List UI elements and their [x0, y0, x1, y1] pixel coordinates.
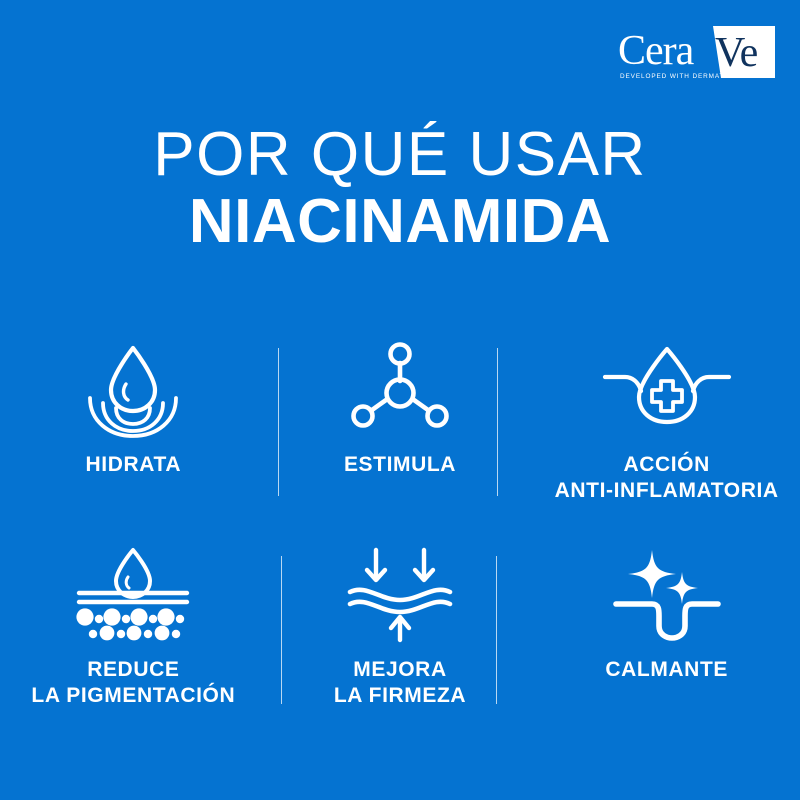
benefit-item-reduce-la-pigmentacion: REDUCE LA PIGMENTACIÓN — [0, 535, 267, 735]
benefit-label-line-1: REDUCE — [87, 658, 179, 681]
title-line-1: POR QUÉ USAR — [0, 122, 800, 188]
benefit-label-line-1: ACCIÓN — [623, 453, 709, 476]
benefit-label: MEJORA LA FIRMEZA — [334, 657, 466, 709]
benefit-label: REDUCE LA PIGMENTACIÓN — [31, 657, 235, 709]
benefit-item-calmante: CALMANTE — [533, 535, 800, 735]
sparkles-pore-icon — [608, 535, 726, 653]
poster-canvas: Cera Ve DEVELOPED WITH DERMATOLOGISTS PO… — [0, 0, 800, 800]
benefit-item-hidrata: HIDRATA — [0, 330, 267, 530]
benefits-row-top: HIDRATA — [0, 330, 800, 530]
cerave-logo: Cera Ve DEVELOPED WITH DERMATOLOGISTS — [617, 26, 775, 84]
droplet-medical-cross-icon — [599, 330, 735, 448]
page-title: POR QUÉ USAR NIACINAMIDA — [0, 122, 800, 256]
benefit-label-line-2: ANTI-INFLAMATORIA — [555, 479, 779, 502]
benefit-item-mejora-la-firmeza: MEJORA LA FIRMEZA — [267, 535, 534, 735]
benefit-label-line-2: LA PIGMENTACIÓN — [31, 684, 235, 707]
water-droplet-ripples-icon — [75, 330, 191, 448]
benefit-item-accion-anti-inflamatoria: ACCIÓN ANTI-INFLAMATORIA — [533, 330, 800, 530]
benefits-row-bottom: REDUCE LA PIGMENTACIÓN — [0, 535, 800, 735]
svg-text:Ve: Ve — [715, 30, 758, 76]
benefit-label: ACCIÓN ANTI-INFLAMATORIA — [555, 452, 779, 504]
benefit-label: ESTIMULA — [344, 452, 456, 478]
logo-tagline: DEVELOPED WITH DERMATOLOGISTS — [620, 73, 764, 80]
benefit-label-line-2: LA FIRMEZA — [334, 684, 466, 707]
svg-text:Cera: Cera — [618, 28, 695, 74]
molecule-icon — [348, 330, 452, 448]
benefit-item-estimula: ESTIMULA — [267, 330, 534, 530]
benefit-label: CALMANTE — [605, 657, 728, 683]
benefit-label: HIDRATA — [86, 452, 182, 478]
droplet-skin-pigment-dots-icon — [71, 535, 195, 653]
title-line-2: NIACINAMIDA — [0, 188, 800, 256]
benefits-grid: HIDRATA — [0, 330, 800, 730]
firmness-arrows-waves-icon — [344, 535, 456, 653]
benefit-label-line-1: MEJORA — [353, 658, 446, 681]
